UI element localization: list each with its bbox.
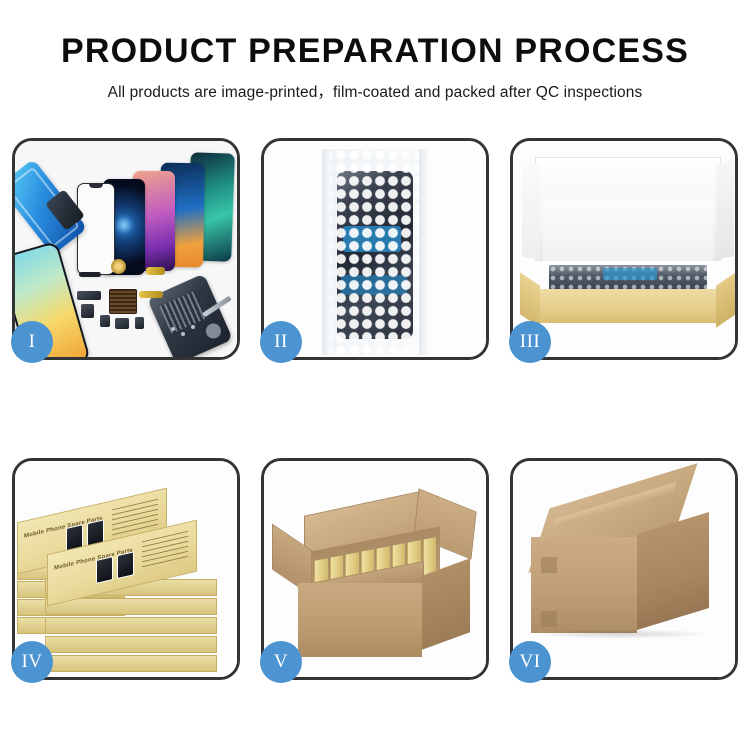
carton-tab-lower [541,611,557,627]
screw-part-icon [191,325,195,329]
step-4-image: Mobile Phone Spare Parts Mobile Phone Sp… [15,461,237,677]
inner-box-front-icon [535,289,721,323]
process-step-1[interactable]: I [12,138,240,360]
step-2-image [264,141,486,357]
bubble-highlight-texture [322,149,428,355]
battery-connector-part-icon [115,318,129,329]
page-header: PRODUCT PREPARATION PROCESS All products… [0,0,750,102]
bag-seam-left [322,149,331,355]
flex-cable-part-icon [146,267,165,275]
process-step-6[interactable]: VI [510,458,738,680]
earpiece-mesh-part-icon [79,272,101,277]
process-step-4[interactable]: Mobile Phone Spare Parts Mobile Phone Sp… [12,458,240,680]
step-3-numeral-badge: III [509,321,551,363]
step-6-image [513,461,735,677]
process-step-2[interactable]: II [261,138,489,360]
page-subtitle: All products are image-printed，film-coat… [0,80,750,102]
step-5-numeral-badge: V [260,641,302,683]
bubble-texture [549,265,707,291]
box-spec-lines [142,531,188,572]
process-step-3[interactable]: III [510,138,738,360]
step-6-numeral-badge: VI [509,641,551,683]
page-title: PRODUCT PREPARATION PROCESS [0,30,750,72]
vibrator-part-icon [100,315,110,327]
bag-seam-right [419,149,428,355]
carton-shadow [531,629,709,639]
box-phone-thumbnail [117,551,134,579]
kraft-box-slab [45,655,217,672]
step-1-image [15,141,237,357]
carton-tab-upper [541,557,557,573]
packed-product-icon [549,265,707,291]
step-1-numeral-badge: I [11,321,53,363]
camera-module-part-icon [81,304,94,318]
process-step-grid: I II III [12,138,738,680]
foam-lining-icon [543,201,713,261]
step-4-numeral-badge: IV [11,641,53,683]
bubble-wrap-bag [322,149,428,355]
carton-front-panel [298,583,422,657]
kraft-box-slab [45,617,217,634]
power-flex-part-icon [139,291,163,298]
step-3-image [513,141,735,357]
process-step-5[interactable]: V [261,458,489,680]
logic-board-part-icon [109,289,137,314]
sim-tray-part-icon [135,317,144,329]
step-5-image [264,461,486,677]
speaker-coil-part-icon [111,259,126,274]
bracket-part-icon [77,291,101,300]
kraft-box-slab [45,636,217,653]
box-phone-thumbnail [96,556,113,584]
screw-part-icon [181,332,185,336]
screw-part-icon [171,327,175,331]
step-2-numeral-badge: II [260,321,302,363]
